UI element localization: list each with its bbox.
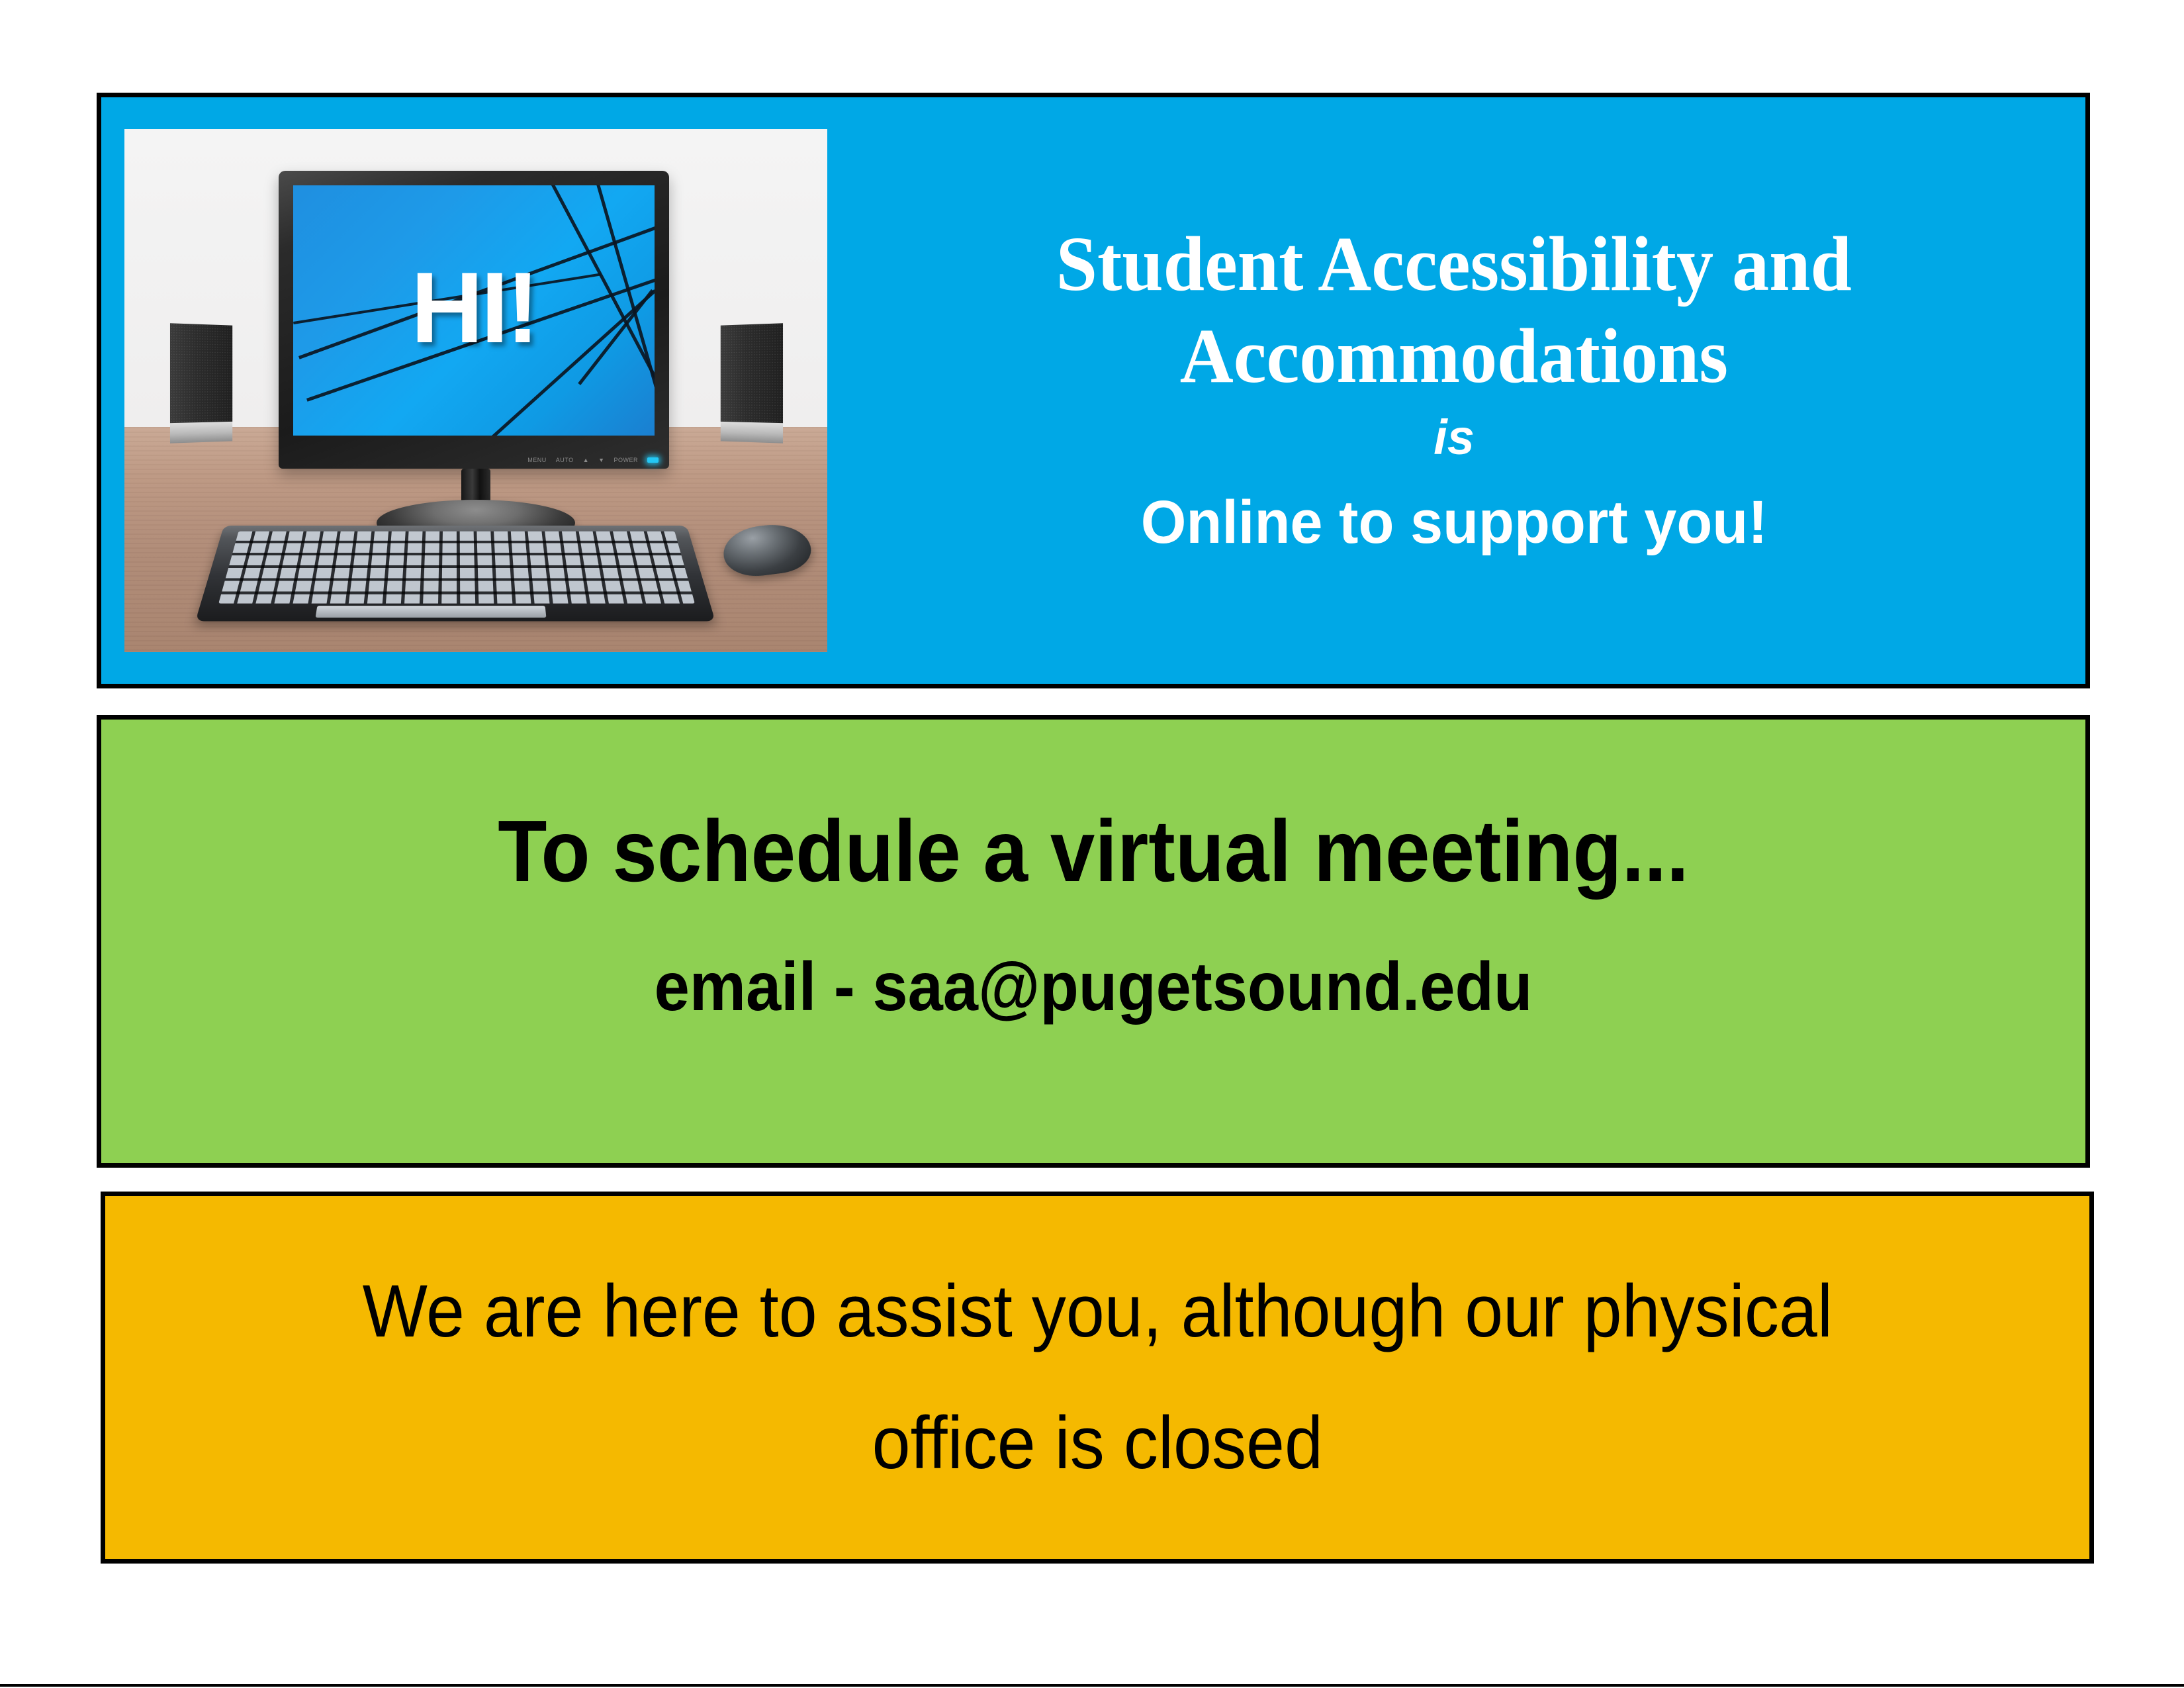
screen-greeting-text: HI! — [293, 185, 655, 436]
speaker-left-body — [170, 323, 232, 423]
monitor-menu-label: MENU — [527, 457, 547, 463]
desktop-computer-photo: HI! MENU AUTO ▲ ▼ POWER — [124, 129, 827, 652]
green-panel-email[interactable]: email - saa@pugetsound.edu — [655, 949, 1533, 1025]
amber-notice-panel: We are here to assist you, although our … — [101, 1192, 2094, 1564]
monitor-screen: HI! — [293, 185, 655, 436]
monitor-auto-label: AUTO — [556, 457, 574, 463]
monitor-down-icon: ▼ — [598, 457, 604, 463]
green-scheduling-panel: To schedule a virtual meeting... email -… — [97, 715, 2090, 1168]
speaker-right-body — [721, 323, 783, 423]
blue-panel-headline-block: Student Accessibility and Accommodations… — [836, 111, 2072, 671]
amber-panel-line-1: We are here to assist you, although our … — [362, 1272, 1832, 1352]
monitor-control-labels: MENU AUTO ▲ ▼ POWER — [527, 457, 659, 463]
monitor-up-icon: ▲ — [583, 457, 589, 463]
speaker-right — [721, 323, 783, 444]
heading-line-2: Accommodations — [1180, 310, 1728, 402]
green-panel-heading: To schedule a virtual meeting... — [498, 802, 1689, 900]
power-led-icon — [647, 457, 659, 463]
monitor-bezel: HI! MENU AUTO ▲ ▼ POWER — [279, 171, 669, 469]
blue-info-panel: HI! MENU AUTO ▲ ▼ POWER Student Accessib… — [97, 93, 2090, 688]
bottom-divider — [0, 1684, 2184, 1687]
monitor-power-label: POWER — [614, 457, 638, 463]
speaker-right-foot — [721, 422, 783, 444]
speaker-left — [170, 323, 232, 444]
keyboard — [195, 526, 715, 621]
heading-line-1: Student Accessibility and — [1056, 218, 1852, 310]
amber-panel-line-2: office is closed — [872, 1403, 1322, 1483]
speaker-left-foot — [170, 422, 232, 444]
heading-line-3: Online to support you! — [1141, 481, 1768, 563]
heading-connector: is — [1433, 404, 1475, 471]
